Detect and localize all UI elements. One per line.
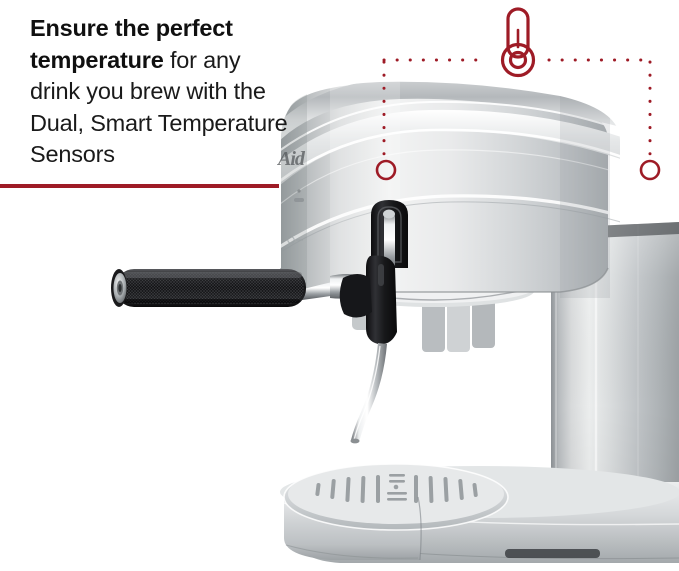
product-feature-card: Aid (0, 0, 679, 571)
steam-wand[interactable] (340, 255, 397, 443)
red-rule-divider (0, 184, 279, 188)
machine-body: Aid (255, 78, 646, 298)
headline-copy: Ensure the perfect temperature for any d… (30, 13, 292, 171)
